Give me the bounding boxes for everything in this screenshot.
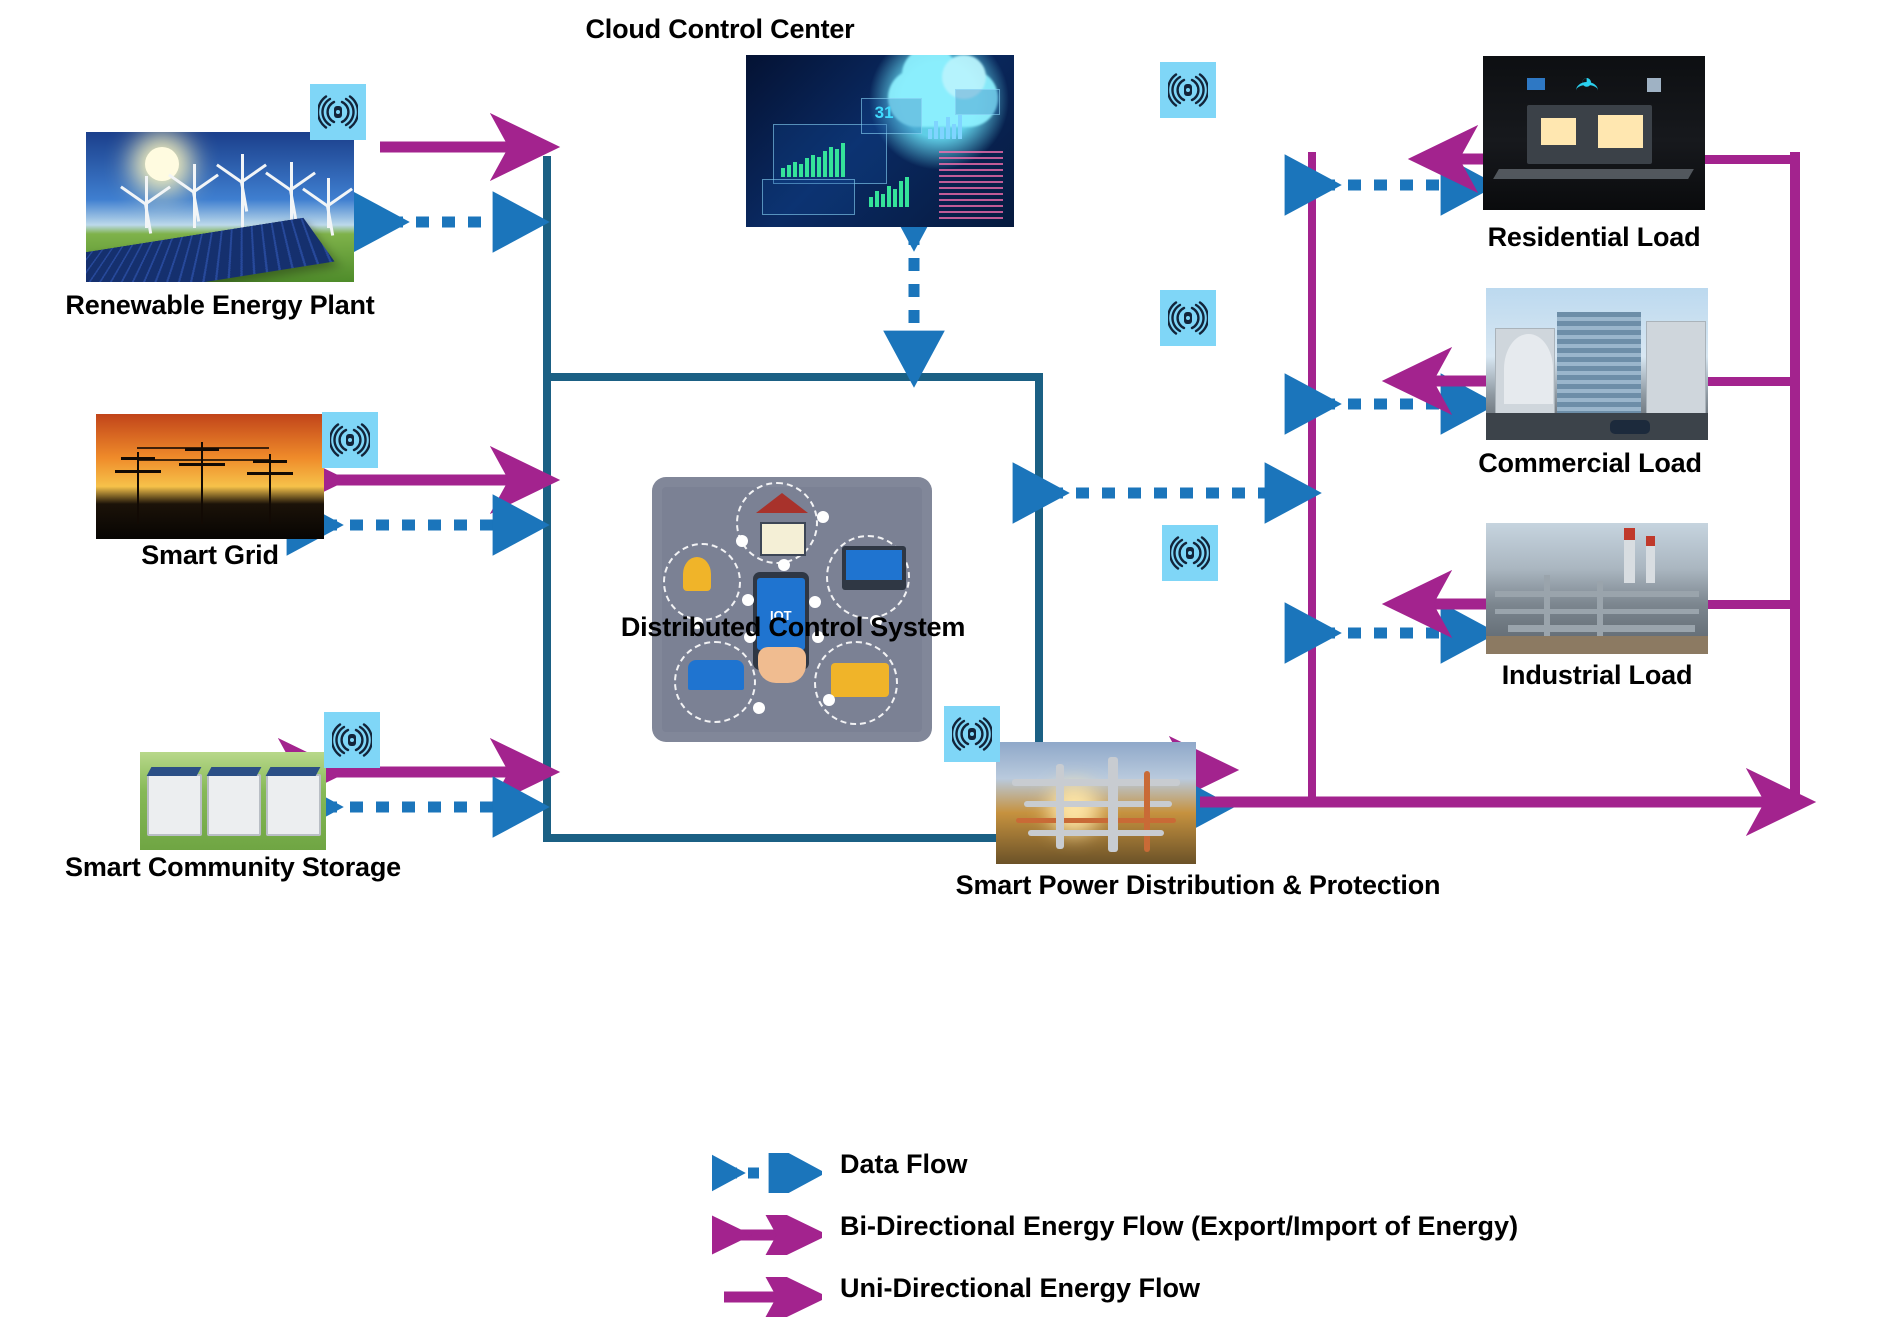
smart-grid-image: [96, 414, 324, 539]
wireless-sensor-icon: [332, 723, 372, 757]
residential-sensor-icon: [1160, 62, 1216, 118]
commercial-load-image: [1486, 288, 1708, 440]
cloud-image-number: 31: [875, 103, 894, 123]
commercial-load-label: Commercial Load: [1430, 448, 1750, 479]
spd-to-return-bus-line: [1190, 798, 1798, 807]
smart-grid-sensor-icon: [322, 412, 378, 468]
residential-load-label: Residential Load: [1440, 222, 1748, 253]
renewable-sensor-icon: [310, 84, 366, 140]
industrial-load-image: [1486, 523, 1708, 654]
wireless-sensor-icon: [1168, 301, 1208, 335]
dcs-box-bottom-edge: [543, 834, 1043, 842]
diagram-canvas: Renewable Energy Plant Cloud Control Cen…: [0, 0, 1904, 1343]
distributed-control-system-label: Distributed Control System: [484, 612, 1102, 643]
commercial-sensor-icon: [1160, 290, 1216, 346]
renewable-energy-plant-image: [86, 132, 354, 282]
smart-community-storage-label: Smart Community Storage: [44, 852, 422, 883]
distributed-control-system-image: IOT: [652, 477, 932, 742]
spd-sensor-icon: [944, 706, 1000, 762]
dcs-left-bus: [543, 156, 551, 834]
legend-label-bidirectional-energy: Bi-Directional Energy Flow (Export/Impor…: [840, 1211, 1518, 1242]
legend-label-data-flow: Data Flow: [840, 1149, 968, 1180]
unidirectional-energy-arrow-icon: [712, 1277, 822, 1317]
residential-load-image: ◕: [1483, 56, 1705, 210]
industrial-sensor-icon: [1162, 525, 1218, 581]
wireless-sensor-icon: [1168, 73, 1208, 107]
bidirectional-energy-arrow-icon: [712, 1215, 822, 1255]
wireless-sensor-icon: [330, 423, 370, 457]
load-distribution-bus: [1308, 152, 1316, 802]
dcs-box-top-edge: [543, 373, 1043, 381]
industrial-load-label: Industrial Load: [1448, 660, 1746, 691]
wireless-sensor-icon: [952, 717, 992, 751]
smart-community-storage-image: [140, 752, 326, 850]
energy-return-bus: [1790, 152, 1800, 807]
storage-sensor-icon: [324, 712, 380, 768]
smart-power-distribution-label: Smart Power Distribution & Protection: [840, 870, 1556, 901]
wireless-sensor-icon: [318, 95, 358, 129]
data-flow-arrow-icon: [712, 1153, 822, 1193]
cloud-control-center-image: 31: [746, 55, 1014, 227]
cloud-control-center-label: Cloud Control Center: [570, 14, 870, 45]
wireless-sensor-icon: [1170, 536, 1210, 570]
smart-grid-label: Smart Grid: [96, 540, 324, 571]
legend-label-unidirectional-energy: Uni-Directional Energy Flow: [840, 1273, 1200, 1304]
return-branch-residential: [1690, 155, 1795, 164]
smart-power-distribution-image: [996, 742, 1196, 864]
renewable-energy-plant-label: Renewable Energy Plant: [26, 290, 414, 321]
